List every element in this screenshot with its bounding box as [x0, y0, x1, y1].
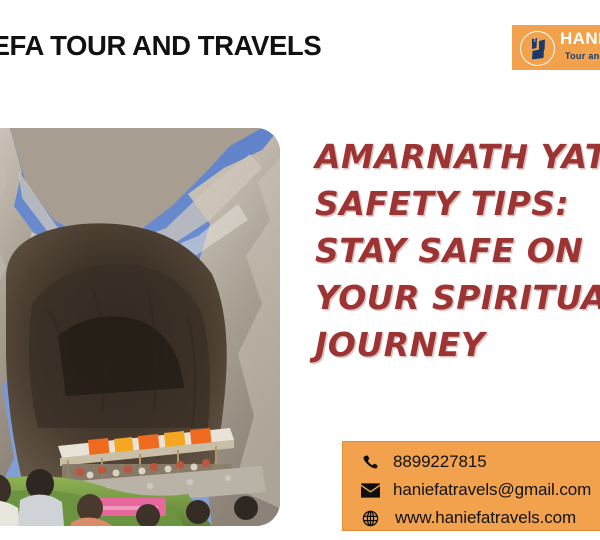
header-bar: HANIEFA TOUR AND TRAVELS HANIEFA Tour an… — [0, 0, 600, 96]
globe-icon — [359, 508, 381, 528]
logo-company-name: HANIEFA — [560, 29, 600, 49]
photo-artwork — [0, 128, 280, 526]
headline-line-3: STAY SAFE ON — [315, 227, 600, 274]
logo-badge-circle — [520, 31, 555, 66]
contact-row-website[interactable]: www.haniefatravels.com — [359, 508, 576, 528]
logo-text: HANIEFA Tour and Travels — [560, 29, 600, 62]
contact-info-box: 8899227815 haniefatravels@gmail.com www.… — [342, 441, 600, 531]
headline: AMARNATH YATRA SAFETY TIPS: STAY SAFE ON… — [315, 133, 600, 368]
contact-website-value: www.haniefatravels.com — [395, 508, 576, 528]
headline-line-1: AMARNATH YATRA — [315, 133, 600, 180]
contact-phone-value: 8899227815 — [393, 452, 487, 472]
headline-line-5: JOURNEY — [315, 321, 600, 368]
amarnath-cave-photo — [0, 128, 280, 526]
contact-row-email[interactable]: haniefatravels@gmail.com — [359, 480, 591, 500]
logo-tagline: Tour and Travels — [565, 50, 600, 62]
headline-line-2: SAFETY TIPS: — [315, 180, 600, 227]
company-logo[interactable]: HANIEFA Tour and Travels — [512, 25, 600, 70]
contact-row-phone[interactable]: 8899227815 — [359, 452, 487, 472]
envelope-icon — [359, 480, 381, 500]
logo-h-monogram-icon — [521, 32, 554, 65]
page-title: HANIEFA TOUR AND TRAVELS — [0, 30, 356, 62]
phone-icon — [359, 452, 381, 472]
contact-email-value: haniefatravels@gmail.com — [393, 480, 591, 500]
headline-line-4: YOUR SPIRITUAL — [315, 274, 600, 321]
